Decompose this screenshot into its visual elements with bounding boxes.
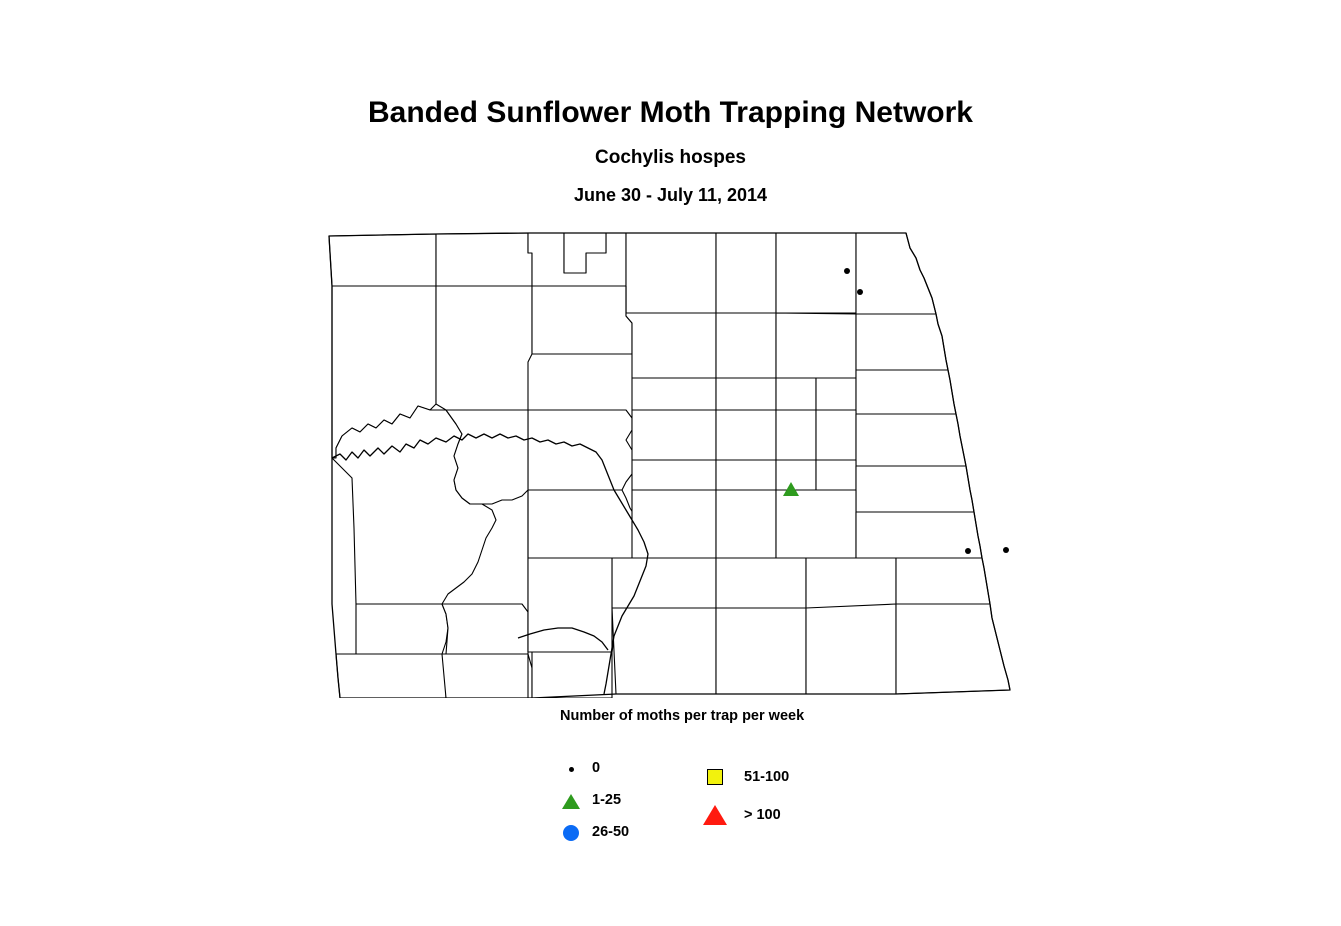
legend-title: Number of moths per trap per week [560,708,804,724]
north-dakota-map [296,228,1056,698]
trap-point-southeast-2[interactable] [1003,547,1009,553]
map-page: Banded Sunflower Moth Trapping Network C… [0,0,1341,926]
blue-circle-icon [558,820,584,846]
legend-label-26-50: 26-50 [592,824,629,840]
green-triangle-icon [558,788,584,814]
date-range-subtitle: June 30 - July 11, 2014 [0,183,1341,207]
legend-label-1-25: 1-25 [592,792,621,808]
legend-label-51-100: 51-100 [744,769,789,785]
legend-item-51-100: 51-100 [702,764,902,802]
county-layer [329,233,1010,698]
legend-item-over-100: > 100 [702,802,902,840]
map-svg [296,228,1056,698]
species-subtitle: Cochylis hospes [0,146,1341,170]
page-title: Banded Sunflower Moth Trapping Network [0,95,1341,131]
black-dot-icon [558,756,584,782]
legend-label-0: 0 [592,760,600,776]
trap-point-central-1[interactable] [783,482,799,496]
legend-label-over-100: > 100 [744,807,781,823]
trap-point-southeast-1[interactable] [965,548,971,554]
title-block: Banded Sunflower Moth Trapping Network C… [0,95,1341,207]
legend-column-right: 51-100 > 100 [702,764,902,840]
trap-point-north-1[interactable] [844,268,850,274]
yellow-square-icon [702,764,728,790]
legend: Number of moths per trap per week 0 1-25… [296,700,1056,860]
trap-point-north-2[interactable] [857,289,863,295]
red-triangle-icon [702,802,728,828]
